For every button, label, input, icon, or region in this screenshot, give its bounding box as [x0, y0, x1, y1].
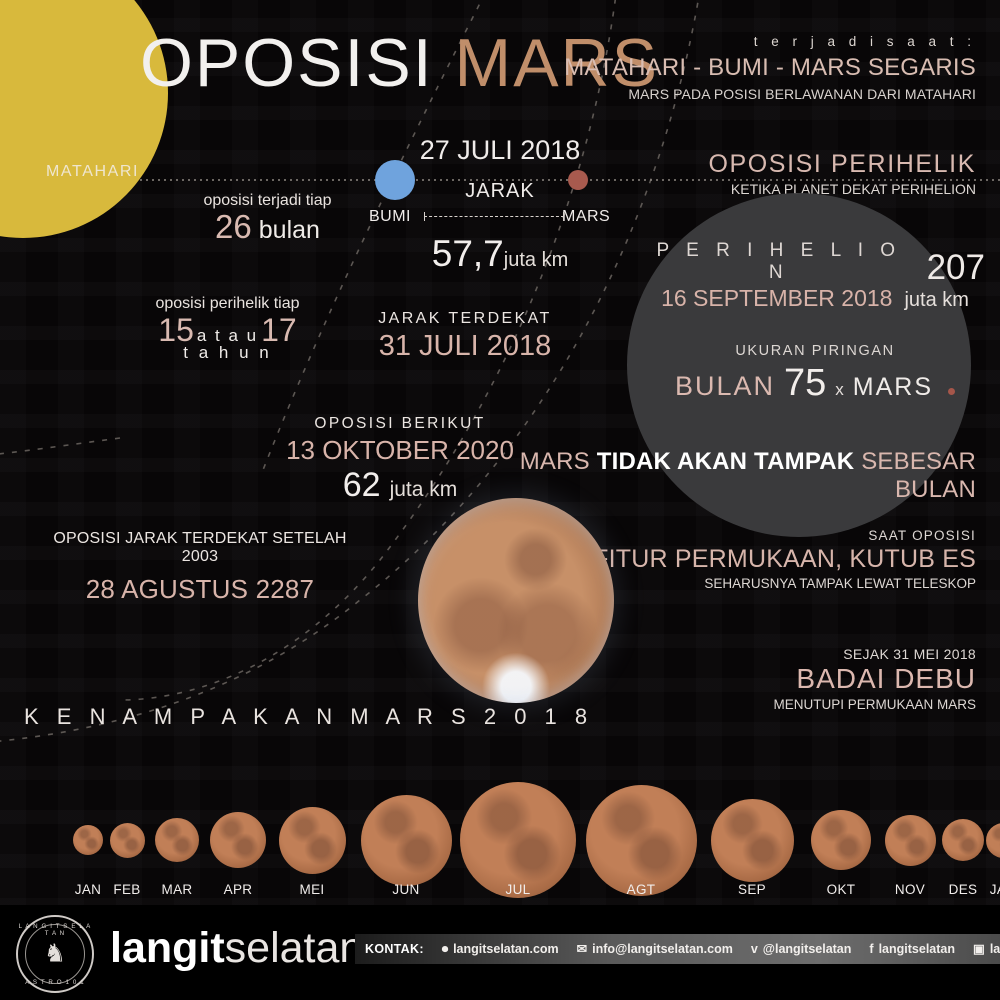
- mars-photo: [418, 498, 614, 703]
- terjadi-saat-headline: MATAHARI - BUMI - MARS SEGARIS: [556, 54, 976, 82]
- mars-disc-sep: [711, 799, 794, 882]
- month-label-mei: MEI: [282, 882, 342, 897]
- earth-dot-icon: [375, 160, 415, 200]
- perihelion-block: P E R I H E L I O N 207 16 SEPTEMBER 201…: [645, 240, 985, 312]
- stat15-caption: oposisi perihelik tiap: [140, 295, 315, 313]
- fitur-permukaan-block: SAAT OPOSISI FITUR PERMUKAAN, KUTUB ES S…: [556, 528, 976, 591]
- langitselatan-logo-icon: L A N G I T S E L A T A N ♞ A S T R O 1 …: [16, 915, 94, 993]
- mars-disc-mei: [279, 807, 346, 874]
- month-label-sep: SEP: [722, 882, 782, 897]
- twitter-icon: ᴠ: [751, 943, 758, 956]
- ukuran-mars-label: MARS: [853, 373, 933, 402]
- berikut-unit: juta km: [390, 478, 458, 501]
- mars-size-dot-icon: [948, 388, 955, 395]
- terjadi-saat-kicker: t e r j a d i s a a t :: [556, 34, 976, 49]
- brand-wordmark: langitselatan: [110, 927, 363, 970]
- month-label-nov: NOV: [880, 882, 940, 897]
- mars-label: MARS: [562, 208, 610, 226]
- title-part-oposisi: OPOSISI: [140, 25, 434, 101]
- berikut-value: 62: [343, 466, 381, 504]
- mars-disc-jan: [986, 823, 1000, 858]
- fitur-line2: FITUR PERMUKAAN, KUTUB ES: [556, 545, 976, 574]
- envelope-icon: ✉: [577, 943, 587, 956]
- mars-disc-mar: [155, 818, 199, 862]
- logo-top-text: L A N G I T S E L A T A N: [18, 923, 92, 937]
- mars-size-chart: JANFEBMARAPRMEIJUNJULAGTSEPOKTNOVDESJAN: [0, 752, 1000, 902]
- month-label-apr: APR: [208, 882, 268, 897]
- month-label-jun: JUN: [376, 882, 436, 897]
- s2003-date: 28 AGUSTUS 2287: [40, 574, 360, 605]
- instagram-icon: ▣: [973, 943, 985, 956]
- jarak-unit: juta km: [504, 249, 568, 271]
- perihelion-unit: juta km: [904, 289, 968, 312]
- oposisi-berikut-block: OPOSISI BERIKUT 13 OKTOBER 2020 62juta k…: [270, 415, 530, 505]
- mars-disc-feb: [110, 823, 145, 858]
- contact-envelope[interactable]: ✉info@langitselatan.com: [577, 942, 733, 956]
- tampak-suffix: SEBESAR BULAN: [854, 448, 976, 503]
- infographic-poster: MATAHARI OPOSISI MARS t e r j a d i s a …: [0, 0, 1000, 1000]
- sun-label: MATAHARI: [46, 163, 139, 181]
- perihelion-label: P E R I H E L I O N: [645, 240, 913, 284]
- stat-oposisi-26-bulan: oposisi terjadi tiap 26bulan: [185, 192, 350, 246]
- stat26-unit: bulan: [259, 216, 320, 244]
- tampak-emphasis: TIDAK AKAN TAMPAK: [597, 448, 855, 475]
- mars-disc-jun: [361, 795, 452, 886]
- badai-line2: BADAI DEBU: [556, 663, 976, 695]
- badai-line1: SEJAK 31 MEI 2018: [556, 646, 976, 662]
- mars-disc-jul: [460, 782, 576, 898]
- contact-text: langitselatan.com: [453, 942, 559, 956]
- stat-oposisi-perihelik-tahun: oposisi perihelik tiap 15a t a u17 t a h…: [140, 295, 315, 363]
- badai-debu-block: SEJAK 31 MEI 2018 BADAI DEBU MENUTUPI PE…: [556, 646, 976, 712]
- ukuran-piringan-block: UKURAN PIRINGAN BULAN 75 x MARS: [645, 343, 985, 405]
- contact-text: @langitselatan: [763, 942, 852, 956]
- month-label-jul: JUL: [488, 882, 548, 897]
- terjadi-saat-block: t e r j a d i s a a t : MATAHARI - BUMI …: [556, 34, 976, 102]
- s2003-label: OPOSISI JARAK TERDEKAT SETELAH 2003: [40, 530, 360, 566]
- perihelion-value: 207: [927, 251, 985, 284]
- badai-line3: MENUTUPI PERMUKAAN MARS: [556, 697, 976, 712]
- perihelion-date: 16 SEPTEMBER 2018: [661, 285, 892, 312]
- month-label-agt: AGT: [611, 882, 671, 897]
- brand-langit: langit: [110, 924, 225, 972]
- contact-bar: KONTAK: ⏺langitselatan.com✉info@langitse…: [355, 934, 1000, 964]
- contact-text: info@langitselatan.com: [592, 942, 733, 956]
- oposisi-perihelik-heading: OPOSISI PERIHELIK: [556, 150, 976, 179]
- opposition-date: 27 JULI 2018: [400, 135, 600, 166]
- centaur-icon: ♞: [44, 942, 66, 967]
- setelah-2003-block: OPOSISI JARAK TERDEKAT SETELAH 2003 28 A…: [40, 530, 360, 605]
- fitur-line1: SAAT OPOSISI: [556, 528, 976, 543]
- contact-text: langitselatanmedia: [990, 942, 1000, 956]
- month-label-mar: MAR: [147, 882, 207, 897]
- kenampakan-heading: K E N A M P A K A N M A R S 2 0 1 8: [24, 704, 593, 730]
- mars-disc-apr: [210, 812, 266, 868]
- kontak-label: KONTAK:: [365, 942, 424, 956]
- contact-facebook[interactable]: flangitselatan: [869, 942, 955, 956]
- mars-disc-nov: [885, 815, 936, 866]
- berikut-date: 13 OKTOBER 2020: [270, 435, 530, 466]
- month-label-jan: JAN: [973, 882, 1000, 897]
- terdekat-label: JARAK TERDEKAT: [350, 310, 580, 328]
- contact-text: langitselatan: [879, 942, 955, 956]
- earth-label: BUMI: [369, 208, 411, 226]
- fitur-line3: SEHARUSNYA TAMPAK LEWAT TELESKOP: [556, 576, 976, 591]
- ukuran-caption: UKURAN PIRINGAN: [645, 343, 985, 359]
- brand-selatan: selatan: [225, 924, 364, 972]
- ukuran-factor: 75: [784, 362, 826, 405]
- terdekat-date: 31 JULI 2018: [350, 330, 580, 363]
- contact-instagram[interactable]: ▣langitselatanmedia: [973, 942, 1000, 956]
- terjadi-saat-sub: MARS PADA POSISI BERLAWANAN DARI MATAHAR…: [556, 86, 976, 102]
- stat26-value: 26: [215, 208, 252, 245]
- tampak-statement: MARS TIDAK AKAN TAMPAK SEBESAR BULAN: [516, 448, 976, 504]
- ukuran-bulan-label: BULAN: [675, 371, 775, 402]
- berikut-label: OPOSISI BERIKUT: [270, 415, 530, 433]
- distance-dimension-line: [424, 216, 564, 217]
- mars-disc-jan: [73, 825, 103, 855]
- logo-bottom-text: A S T R O 1 0 1: [18, 979, 92, 986]
- jarak-terdekat-block: JARAK TERDEKAT 31 JULI 2018: [350, 310, 580, 363]
- oposisi-perihelik-block: OPOSISI PERIHELIK KETIKA PLANET DEKAT PE…: [556, 150, 976, 197]
- jarak-value: 57,7: [432, 233, 504, 274]
- month-label-okt: OKT: [811, 882, 871, 897]
- rss-icon: ⏺: [442, 943, 448, 956]
- ukuran-times: x: [835, 380, 844, 400]
- jarak-label: JARAK: [425, 180, 575, 203]
- contact-rss[interactable]: ⏺langitselatan.com: [442, 942, 559, 956]
- oposisi-perihelik-sub: KETIKA PLANET DEKAT PERIHELION: [556, 181, 976, 197]
- mars-disc-des: [942, 819, 984, 861]
- facebook-icon: f: [869, 943, 873, 956]
- mars-disc-okt: [811, 810, 871, 870]
- jarak-value-block: 57,7juta km: [400, 233, 600, 275]
- contact-twitter[interactable]: ᴠ@langitselatan: [751, 942, 852, 956]
- tampak-prefix: MARS: [520, 448, 597, 475]
- mars-disc-agt: [586, 785, 697, 896]
